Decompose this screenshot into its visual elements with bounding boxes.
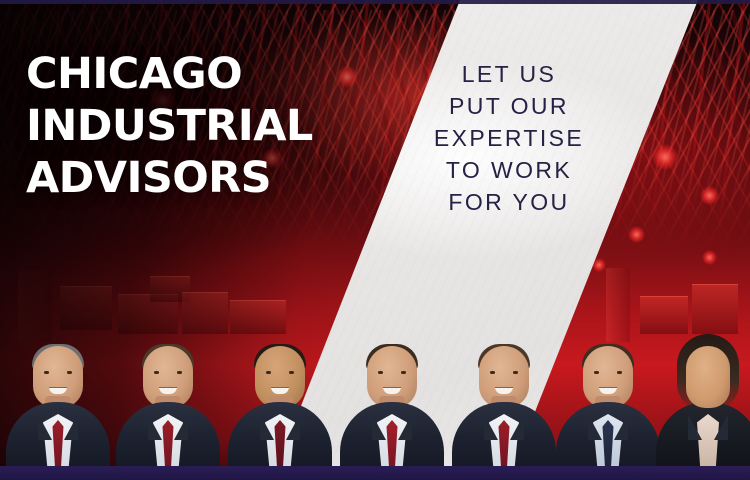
tagline-line-1: LET US — [404, 58, 614, 90]
lapel-left — [148, 414, 162, 440]
eye-right — [67, 371, 72, 374]
lapel-left — [688, 414, 702, 440]
eye-right — [513, 371, 518, 374]
chicago-industrial-advisors-banner: CHICAGO INDUSTRIAL ADVISORS LET US PUT O… — [0, 0, 750, 480]
headline-line-1: CHICAGO — [26, 48, 356, 100]
lapel-right — [714, 414, 728, 440]
team-member-6 — [556, 334, 660, 466]
eye-right — [617, 371, 622, 374]
eye-right — [289, 371, 294, 374]
lapel-right — [64, 414, 78, 440]
eye-left — [378, 371, 383, 374]
tagline-line-4: TO WORK — [404, 154, 614, 186]
team-member-4 — [340, 334, 444, 466]
lapel-right — [286, 414, 300, 440]
tagline-line-2: PUT OUR — [404, 90, 614, 122]
page-title: CHICAGO INDUSTRIAL ADVISORS — [26, 48, 356, 204]
lapel-right — [614, 414, 628, 440]
tagline-line-5: FOR YOU — [404, 186, 614, 218]
headline-line-2: INDUSTRIAL — [26, 100, 356, 152]
lapel-left — [260, 414, 274, 440]
eye-left — [594, 371, 599, 374]
lapel-left — [372, 414, 386, 440]
team-photo-row — [0, 326, 750, 466]
lapel-left — [484, 414, 498, 440]
team-member-2 — [116, 334, 220, 466]
tagline-line-3: EXPERTISE — [404, 122, 614, 154]
eye-right — [401, 371, 406, 374]
team-member-7 — [656, 334, 750, 466]
eye-left — [44, 371, 49, 374]
team-member-3 — [228, 334, 332, 466]
eye-left — [266, 371, 271, 374]
team-member-5 — [452, 334, 556, 466]
headline-line-3: ADVISORS — [26, 152, 356, 204]
team-member-1 — [6, 334, 110, 466]
lapel-right — [510, 414, 524, 440]
lapel-right — [174, 414, 188, 440]
lapel-left — [38, 414, 52, 440]
face — [686, 346, 730, 408]
lapel-right — [398, 414, 412, 440]
eye-right — [177, 371, 182, 374]
eye-left — [490, 371, 495, 374]
lapel-left — [588, 414, 602, 440]
eye-left — [154, 371, 159, 374]
tagline: LET US PUT OUR EXPERTISE TO WORK FOR YOU — [404, 58, 614, 218]
bottom-accent-bar — [0, 466, 750, 480]
top-accent-bar — [0, 0, 750, 4]
